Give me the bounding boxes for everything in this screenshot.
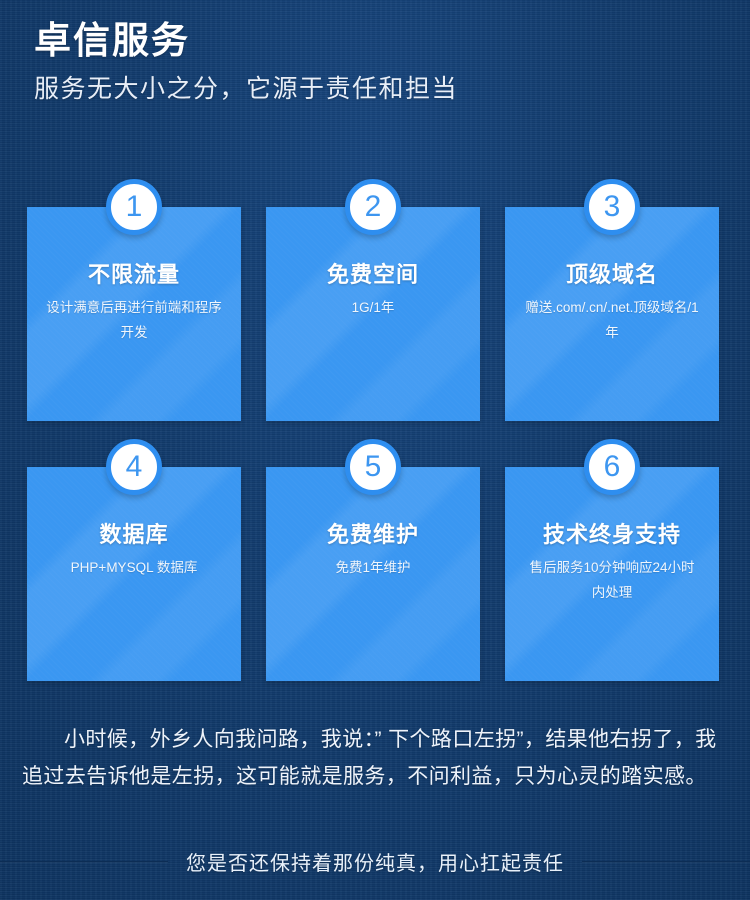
service-card-body: 技术终身支持 售后服务10分钟响应24小时内处理 — [505, 522, 719, 606]
service-card-5[interactable]: 5 免费维护 免费1年维护 — [266, 467, 480, 681]
service-card-body: 免费空间 1G/1年 — [266, 262, 480, 321]
number-badge-2: 2 — [345, 179, 401, 235]
number-badge-1: 1 — [106, 179, 162, 235]
number-badge-6: 6 — [584, 439, 640, 495]
page-subtitle: 服务无大小之分，它源于责任和担当 — [34, 73, 724, 106]
service-card-title: 不限流量 — [33, 262, 235, 288]
number-badge-3: 3 — [584, 179, 640, 235]
service-card-description: 赠送.com/.cn/.net.顶级域名/1年 — [511, 296, 713, 346]
footer-rule-left — [0, 861, 168, 862]
service-card-body: 免费维护 免费1年维护 — [266, 522, 480, 581]
service-card-title: 顶级域名 — [511, 262, 713, 288]
page-title: 卓信服务 — [34, 18, 724, 64]
service-card-title: 数据库 — [33, 522, 235, 548]
service-card-6[interactable]: 6 技术终身支持 售后服务10分钟响应24小时内处理 — [505, 467, 719, 681]
service-card-title: 免费维护 — [272, 522, 474, 548]
number-badge-5: 5 — [345, 439, 401, 495]
badge-number-label: 4 — [126, 452, 143, 482]
service-card-1[interactable]: 1 不限流量 设计满意后再进行前端和程序开发 — [27, 207, 241, 421]
badge-number-label: 6 — [604, 452, 621, 482]
service-card-title: 技术终身支持 — [511, 522, 713, 548]
badge-number-label: 1 — [126, 192, 143, 222]
story-paragraph: 小时候，外乡人向我问路，我说：” 下个路口左拐”，结果他右拐了，我追过去告诉他是… — [22, 722, 728, 796]
service-card-grid: 1 不限流量 设计满意后再进行前端和程序开发 2 免费空间 1G/1年 3 顶级… — [27, 207, 719, 681]
footer-rule-right — [582, 861, 750, 862]
service-card-description: PHP+MYSQL 数据库 — [33, 556, 235, 581]
service-card-body: 顶级域名 赠送.com/.cn/.net.顶级域名/1年 — [505, 262, 719, 346]
service-card-description: 设计满意后再进行前端和程序开发 — [33, 296, 235, 346]
service-card-description: 免费1年维护 — [272, 556, 474, 581]
badge-number-label: 3 — [604, 192, 621, 222]
footer-banner: 您是否还保持着那份纯真，用心扛起责任 — [0, 845, 750, 877]
number-badge-4: 4 — [106, 439, 162, 495]
service-card-body: 不限流量 设计满意后再进行前端和程序开发 — [27, 262, 241, 346]
service-card-title: 免费空间 — [272, 262, 474, 288]
footer-slogan: 您是否还保持着那份纯真，用心扛起责任 — [168, 847, 582, 876]
service-card-2[interactable]: 2 免费空间 1G/1年 — [266, 207, 480, 421]
service-card-description: 售后服务10分钟响应24小时内处理 — [511, 556, 713, 606]
service-card-4[interactable]: 4 数据库 PHP+MYSQL 数据库 — [27, 467, 241, 681]
service-card-body: 数据库 PHP+MYSQL 数据库 — [27, 522, 241, 581]
badge-number-label: 5 — [365, 452, 382, 482]
service-card-3[interactable]: 3 顶级域名 赠送.com/.cn/.net.顶级域名/1年 — [505, 207, 719, 421]
page-header: 卓信服务 服务无大小之分，它源于责任和担当 — [34, 18, 724, 106]
badge-number-label: 2 — [365, 192, 382, 222]
service-card-description: 1G/1年 — [272, 296, 474, 321]
